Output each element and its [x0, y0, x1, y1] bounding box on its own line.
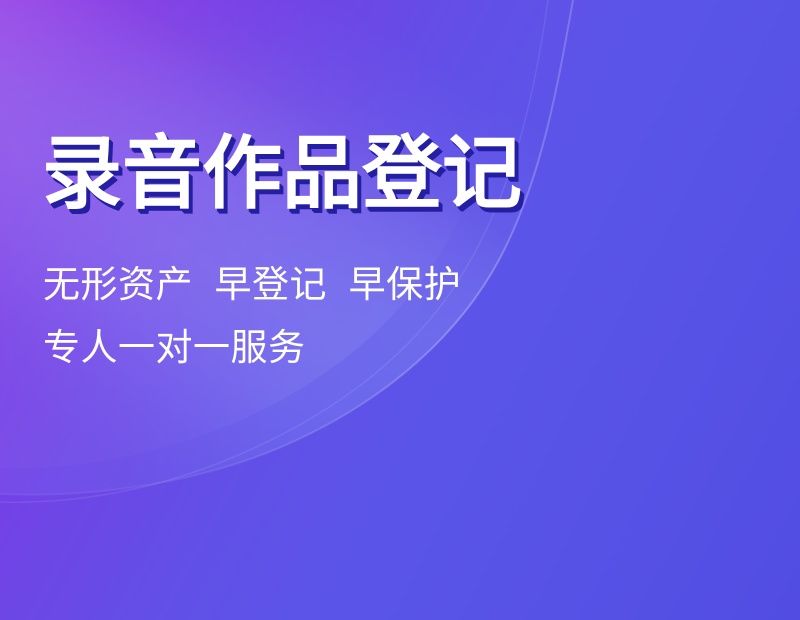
banner-text-block: 录音作品登记 无形资产 早登记 早保护 专人一对一服务 [42, 0, 602, 620]
banner-title: 录音作品登记 [42, 126, 522, 222]
promo-banner: 录音作品登记 无形资产 早登记 早保护 专人一对一服务 [0, 0, 800, 620]
banner-subtitle-line-2: 专人一对一服务 [43, 326, 306, 370]
banner-subtitle-line-1: 无形资产 早登记 早保护 [43, 263, 461, 307]
